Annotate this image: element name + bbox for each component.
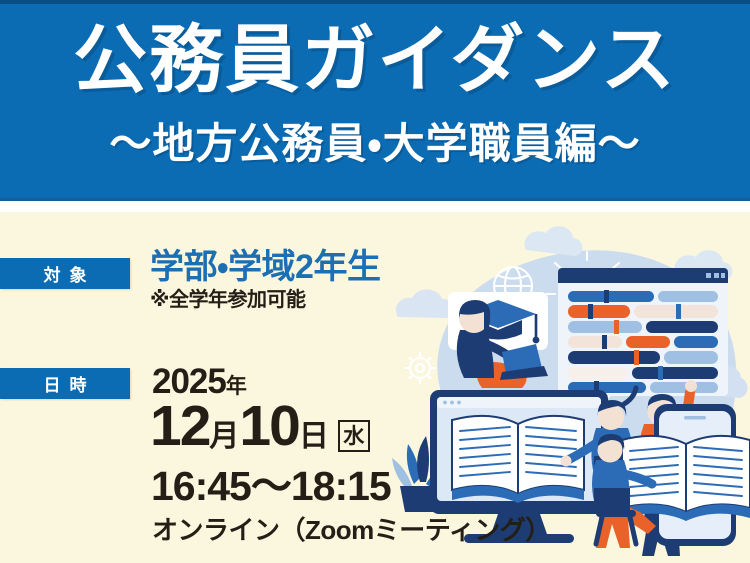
event-day-of-week: 水 [338, 420, 370, 452]
standing-person-raised-arm [638, 380, 697, 556]
person-with-laptop [457, 300, 548, 388]
cloud-shape-far-right [688, 365, 748, 398]
poster-title: 公務員ガイダンス [0, 22, 750, 97]
header-top-rule [0, 0, 750, 4]
cloud-shape-top [525, 226, 583, 256]
open-book-on-monitor [452, 416, 584, 503]
poster-header: 公務員ガイダンス 〜地方公務員・大学職員編〜 [0, 0, 750, 201]
bookshelf-row-6 [568, 366, 718, 380]
poster-body: 対象 学部・学域2年生 ※全学年参加可能 2025年 12月10日水 16:45… [0, 212, 750, 563]
target-audience-note: ※全学年参加可能 [150, 290, 305, 310]
event-poster: 公務員ガイダンス 〜地方公務員・大学職員編〜 [0, 0, 750, 563]
lightbulb-icon [547, 252, 627, 322]
standing-person-pointing [561, 388, 637, 548]
target-label-badge: 対象 [0, 258, 130, 289]
event-time-range: 16:45〜18:15 [151, 466, 391, 507]
potted-plant-icon [392, 436, 452, 512]
poster-subtitle: 〜地方公務員・大学職員編〜 [0, 122, 750, 166]
bookshelf-row-4 [568, 335, 718, 349]
cloud-shape-left [396, 289, 454, 318]
browser-window-controls [706, 273, 725, 278]
browser-window-bookshelf [558, 268, 728, 396]
gear-icon [404, 352, 436, 384]
event-month-number: 12 [150, 398, 209, 455]
online-learning-illustration [390, 212, 750, 563]
cloud-shape-right [675, 250, 733, 280]
event-day-number: 10 [239, 398, 298, 455]
monitor-window-dots [443, 401, 461, 405]
bookshelf-row-7 [568, 381, 718, 394]
graduation-cap-icon [460, 300, 539, 343]
event-day-unit: 日 [299, 422, 329, 455]
bookshelf-row-2 [568, 304, 718, 319]
smartphone-open-book [622, 404, 750, 546]
bookshelf-row-5 [568, 350, 718, 365]
header-body-separator [0, 201, 750, 212]
seated-person-right [592, 434, 656, 544]
target-audience-value: 学部・学域2年生 [150, 250, 380, 284]
globe-icon [494, 267, 532, 305]
blob-background [437, 250, 736, 474]
rocket-icon [565, 360, 628, 426]
event-month-unit: 月 [209, 422, 239, 455]
graduation-cap-speech-bubble [448, 292, 548, 368]
open-book-on-phone [622, 436, 750, 521]
bookshelf-row-1 [568, 290, 718, 303]
bookshelf-row-3 [568, 320, 718, 334]
event-date: 12月10日水 [150, 398, 370, 455]
datetime-label-badge: 日時 [0, 368, 130, 399]
event-venue: オンライン（Zoomミーティング） [152, 517, 551, 543]
